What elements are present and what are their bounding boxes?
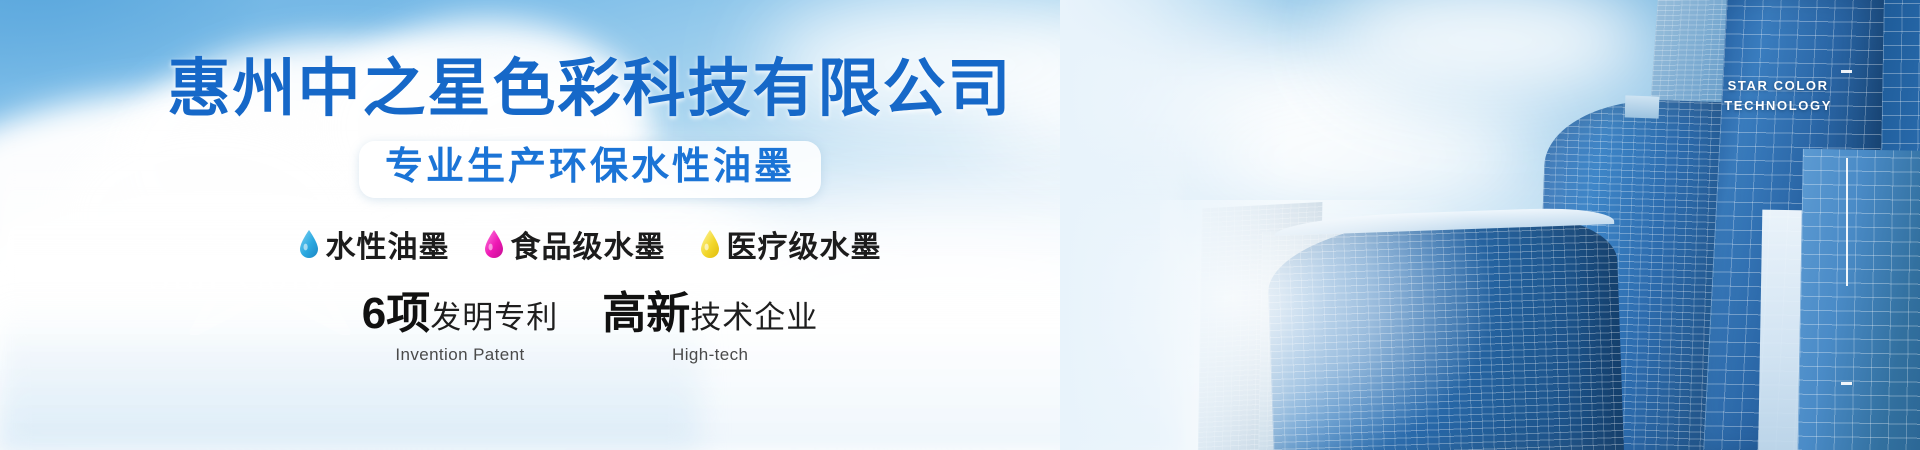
- badge-main-line: 高新 技术企业: [602, 292, 818, 336]
- feature-label: 水性油墨: [326, 222, 450, 266]
- badge-rest-text: 技术企业: [690, 302, 818, 333]
- badge-rest-text: 发明专利: [430, 302, 558, 333]
- skyscraper-photo: [1060, 0, 1920, 450]
- facade-tick-top: [1841, 70, 1852, 73]
- facade-tick-bottom: [1841, 382, 1852, 385]
- badge-strong-text: 6项: [362, 292, 430, 336]
- subtitle-text: 专业生产环保水性油墨: [385, 148, 795, 188]
- subtitle-pill: 专业生产环保水性油墨: [359, 141, 821, 198]
- badge-main-line: 6项 发明专利: [362, 292, 558, 336]
- facade-vertical-rule: [1846, 158, 1848, 286]
- feature-item-food-grade-ink: 食品级水墨: [484, 222, 666, 266]
- badge-english-text: High-tech: [672, 345, 748, 365]
- credential-badges: 6项 发明专利 Invention Patent 高新 技术企业 High-te…: [362, 292, 818, 365]
- tall-tower-crown: [1625, 95, 1660, 118]
- company-title: 惠州中之星色彩科技有限公司: [168, 58, 1013, 121]
- facade-brand-line1: STAR COLOR: [1724, 76, 1832, 96]
- feature-list: 水性油墨 食品级水墨: [299, 222, 882, 266]
- water-drop-icon: [484, 230, 504, 258]
- facade-brand-line2: TECHNOLOGY: [1724, 96, 1832, 116]
- badge-invention-patent: 6项 发明专利 Invention Patent: [362, 292, 558, 365]
- feature-item-medical-grade-ink: 医疗级水墨: [700, 222, 882, 266]
- badge-strong-text: 高新: [602, 292, 690, 336]
- badge-english-text: Invention Patent: [395, 345, 524, 365]
- facade-brand-label: STAR COLOR TECHNOLOGY: [1724, 76, 1832, 116]
- curved-foreground-tower: [1266, 209, 1625, 450]
- water-drop-icon: [299, 230, 319, 258]
- foreground-right-tower: [1797, 149, 1920, 450]
- water-drop-icon: [700, 230, 720, 258]
- feature-item-water-ink: 水性油墨: [299, 222, 450, 266]
- badge-high-tech: 高新 技术企业 High-tech: [602, 292, 818, 365]
- feature-label: 食品级水墨: [511, 222, 666, 266]
- banner-content: 惠州中之星色彩科技有限公司 专业生产环保水性油墨 水性油墨: [0, 0, 1180, 450]
- feature-label: 医疗级水墨: [727, 222, 882, 266]
- company-banner: Star Color STAR COLOR TECHNOLOGY 惠州中之星色彩…: [0, 0, 1920, 450]
